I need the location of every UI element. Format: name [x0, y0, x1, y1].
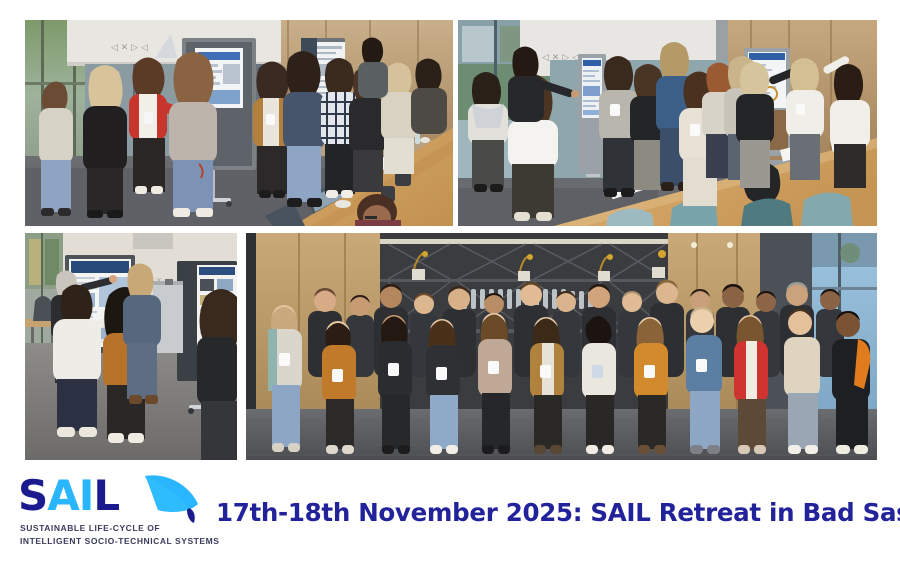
wordmark-letter-s: S — [18, 471, 47, 520]
tagline-line-1: SUSTAINABLE LIFE-CYCLE OF — [20, 522, 230, 535]
sail-tagline: SUSTAINABLE LIFE-CYCLE OF INTELLIGENT SO… — [20, 522, 230, 547]
photo-bottom-left-image: ✕ ✕ ✕ — [25, 233, 237, 460]
photo-top-right: ◁ ✕ ▷ ◁ ✕ — [458, 20, 877, 226]
photo-collage: ◁ ✕ ▷ ◁ — [25, 20, 877, 460]
tagline-line-2: INTELLIGENT SOCIO-TECHNICAL SYSTEMS — [20, 535, 230, 548]
photo-bottom-left: ✕ ✕ ✕ — [25, 233, 237, 460]
wordmark-letter-i: I — [79, 471, 94, 520]
event-headline: 17th-18th November 2025: SAIL Retreat in… — [216, 462, 900, 563]
footer-bar: SAIL SUSTAINABLE LIFE-CYCLE OF INTELLIGE… — [0, 462, 900, 563]
photo-top-right-image: ◁ ✕ ▷ ◁ ✕ — [458, 20, 877, 226]
photo-top-left: ◁ ✕ ▷ ◁ — [25, 20, 453, 226]
wordmark-letter-a: A — [47, 471, 79, 520]
wordmark-letter-l: L — [93, 471, 119, 520]
sail-boat-icon — [142, 470, 204, 526]
sail-brand-logo: SAIL SUSTAINABLE LIFE-CYCLE OF INTELLIGE… — [18, 472, 218, 552]
banner-page: ◁ ✕ ▷ ◁ — [0, 0, 900, 563]
photo-bottom-right-image — [246, 233, 877, 460]
sail-wordmark: SAIL — [18, 472, 119, 520]
sail-wordmark-row: SAIL — [18, 472, 214, 520]
svg-text:◁ ✕ ▷ ◁: ◁ ✕ ▷ ◁ — [111, 43, 148, 53]
photo-top-left-image: ◁ ✕ ▷ ◁ — [25, 20, 453, 226]
photo-bottom-right — [246, 233, 877, 460]
